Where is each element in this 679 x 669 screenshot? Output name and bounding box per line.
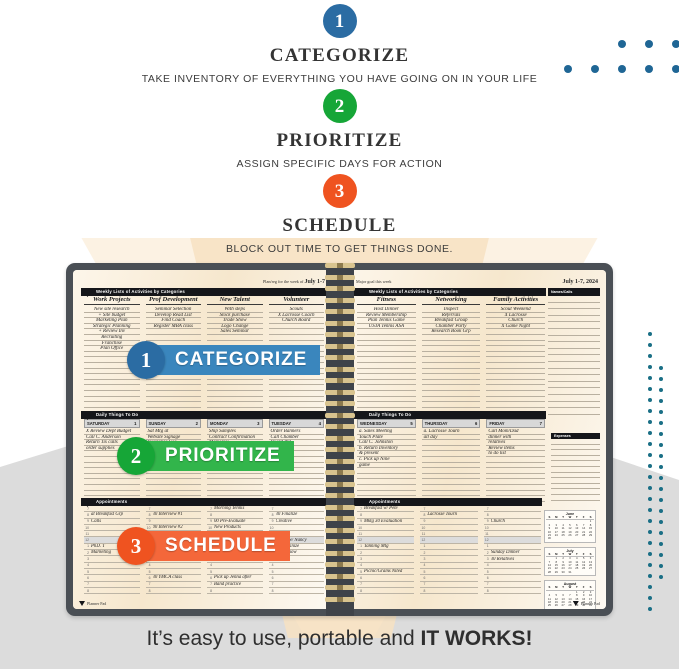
slot-time: 1 (84, 544, 91, 548)
step-1-badge: 1 (323, 4, 357, 38)
coil-ring (325, 551, 355, 556)
left-section1-bar-label: Weekly Lists of Activities by Categories (96, 289, 185, 294)
appointment-slot: 8 (269, 588, 325, 594)
coil-ring (325, 539, 355, 544)
decorative-dot (648, 574, 652, 578)
right-section3-bar: Appointments (354, 498, 542, 506)
right-daily-todo-section: Daily Things To Do WEDNESDAY5 a. Sales M… (354, 411, 600, 502)
slot-time: 11 (84, 532, 91, 536)
calendar-day: 31 (567, 571, 574, 574)
decorative-dot (648, 475, 652, 479)
slot-entry: Sunday Dinner (491, 550, 541, 555)
ruled-line (548, 336, 600, 343)
mini-calendar-grid: SMTWTFS123456789101112131415161718192021… (546, 516, 594, 541)
overlay-3-circle: 3 (117, 527, 155, 565)
slot-time: 10 (357, 526, 364, 530)
overlay-label-categorize: 1 CATEGORIZE (127, 341, 320, 379)
decorative-dot (659, 575, 663, 579)
slot-entry: Morning Tennis (214, 506, 263, 511)
right-section2-bar-label: Daily Things To Do (369, 412, 411, 417)
slot-time: 7 (84, 582, 91, 586)
ruled-line (548, 309, 600, 316)
coil-ring (325, 390, 355, 395)
day-column-head: FRIDAY7 (486, 419, 545, 428)
calendar-day (587, 537, 594, 540)
ruled-line (548, 316, 600, 323)
category-column-head: Family Activities (486, 296, 545, 305)
flag-icon (81, 411, 94, 419)
decorative-dot (648, 541, 652, 545)
slot-time: 8 (420, 513, 427, 517)
ruled-line (548, 369, 600, 376)
coil-ring (325, 413, 355, 418)
day-name: SATURDAY (87, 421, 110, 426)
day-number: 5 (410, 421, 412, 426)
decorative-dot (648, 607, 652, 611)
slot-time: 7 (207, 507, 214, 511)
calendar-day: 30 (560, 571, 567, 574)
slot-time: 5 (84, 570, 91, 574)
slot-time: 8 (269, 589, 276, 593)
mini-calendar: July SMTWTFS1234567891011121314151617181… (544, 547, 596, 576)
day-column-body: Call Mom/Daddinner withrelativesReview i… (486, 429, 545, 502)
slot-time: 5 (420, 570, 427, 574)
flag-icon (354, 498, 367, 506)
decorative-dot (648, 354, 652, 358)
day-column: THURSDAY6 a. Lacrosse Tournall day (419, 419, 484, 502)
slot-time: 8 (146, 513, 153, 517)
decorative-dot (648, 519, 652, 523)
slot-time: 9 (269, 519, 276, 523)
slot-time: 1 (484, 544, 491, 548)
coil-ring (325, 298, 355, 303)
calendar-day: 29 (553, 571, 560, 574)
slot-time: 1 (420, 544, 427, 548)
step-2-title: PRIORITIZE (0, 130, 679, 152)
ruled-line (548, 329, 600, 336)
decorative-dot (648, 365, 652, 369)
overlay-1-circle: 1 (127, 341, 165, 379)
step-1-subtitle: TAKE INVENTORY OF EVERYTHING YOU HAVE GO… (0, 73, 679, 85)
slot-time: 8 (207, 589, 214, 593)
slot-time: 6 (357, 576, 364, 580)
day-number: 6 (475, 421, 477, 426)
ruled-line (269, 402, 325, 408)
coil-ring (325, 436, 355, 441)
right-section1-columns: Fitness Host DinnerReview MembershipPlan… (354, 296, 548, 415)
slot-entry: Breakfast w/ Pete (364, 506, 414, 511)
coil-ring (325, 332, 355, 337)
coil-ring (325, 482, 355, 487)
slot-time: 4 (357, 563, 364, 567)
ruled-line (548, 402, 600, 409)
ruled-line (207, 402, 263, 408)
right-weekly-lists-section: Major goal this week July 1-7, 2024 Week… (354, 288, 600, 415)
decorative-dot (648, 431, 652, 435)
slot-time: 3 (420, 557, 427, 561)
step-1: 1 CATEGORIZE TAKE INVENTORY OF EVERYTHIN… (0, 4, 679, 85)
right-section2-columns: WEDNESDAY5 a. Sales MeetingTouch PlateCa… (354, 419, 548, 502)
step-2-badge: 2 (323, 89, 357, 123)
decorative-dot (659, 377, 663, 381)
decorative-dot (659, 421, 663, 425)
calendar-day (580, 537, 587, 540)
slot-time: 8 (84, 589, 91, 593)
category-column: Family Activities Scout WeekendX Lacross… (483, 296, 548, 415)
category-column-head: Networking (422, 296, 481, 305)
slot-time: 9 (357, 519, 364, 523)
slot-time: 8 (84, 513, 91, 517)
decorative-dot (659, 520, 663, 524)
day-name: MONDAY (210, 421, 228, 426)
overlay-label-schedule: 3 SCHEDULE (117, 527, 290, 565)
tagline: It’s easy to use, portable and IT WORKS! (0, 627, 679, 651)
day-number: 3 (257, 421, 259, 426)
ruled-line (548, 362, 600, 369)
planner-right-page: Major goal this week July 1-7, 2024 Week… (346, 270, 606, 609)
coil-ring (325, 286, 355, 291)
category-column-head: New Talent (207, 296, 263, 305)
coil-ring (325, 505, 355, 510)
decorative-dot (659, 509, 663, 513)
decorative-dot (648, 343, 652, 347)
slot-time: 8 (357, 589, 364, 593)
tagline-normal: It’s easy to use, portable and (147, 627, 421, 650)
calendar-day (573, 571, 580, 574)
slot-time: 7 (484, 507, 491, 511)
slot-time: 2 (484, 551, 491, 555)
decorative-dot (648, 409, 652, 413)
decorative-dot (659, 399, 663, 403)
mini-calendar-grid: SMTWTFS123456789101112131415161718192021… (546, 553, 594, 574)
slot-time: 8 (484, 589, 491, 593)
decorative-dot (648, 420, 652, 424)
slot-entry: Picnic/Grams Nited (364, 569, 414, 574)
coil-ring (325, 378, 355, 383)
slot-time: 5 (357, 570, 364, 574)
ruled-line (84, 402, 140, 408)
decorative-dot (591, 65, 599, 73)
category-column: Networking InspectReferralsBreakfast Gro… (419, 296, 484, 415)
day-column-body: a. Sales MeetingTouch PlateCall C. Johns… (357, 429, 416, 502)
calendar-day: 25 (546, 604, 553, 607)
decorative-dot (659, 465, 663, 469)
slot-time: 12 (84, 538, 91, 542)
slot-time: 6 (207, 576, 214, 580)
overlay-1-ribbon: CATEGORIZE (156, 345, 320, 375)
step-3-subtitle: BLOCK OUT TIME TO GET THINGS DONE. (0, 243, 679, 255)
calendar-day (567, 537, 574, 540)
appointment-column: 789Church10111212Sunday Dinner330 Relati… (481, 506, 544, 594)
slot-time: 3 (357, 557, 364, 561)
coil-ring (325, 275, 355, 280)
category-column-head: Work Projects (84, 296, 140, 305)
decorative-dot (618, 65, 626, 73)
coil-ring (325, 447, 355, 452)
slot-time: 6 (484, 576, 491, 580)
slot-time: 9 (146, 519, 153, 523)
decorative-dot (648, 387, 652, 391)
calendar-day: 26 (553, 604, 560, 607)
names-calls-lines (548, 296, 600, 415)
decorative-dot (659, 487, 663, 491)
slot-time: 9 (484, 519, 491, 523)
decorative-dot (659, 498, 663, 502)
step-3-badge: 3 (323, 174, 357, 208)
slot-entry: 30 YMCA class (153, 575, 202, 580)
slot-time: 4 (420, 563, 427, 567)
decorative-dot (648, 497, 652, 501)
day-number: 4 (319, 421, 321, 426)
day-column-head: SUNDAY2 (146, 419, 202, 428)
appointment-column: 78Lacrosse Tourn910111212345678 (417, 506, 480, 594)
decorative-dot (648, 508, 652, 512)
appointment-slot: 8 (420, 588, 477, 594)
decorative-dot (648, 486, 652, 490)
coil-ring (325, 401, 355, 406)
slot-entry: at Breakfast Grp (91, 512, 140, 517)
slot-time: 7 (207, 582, 214, 586)
right-brand: Planner Pad (573, 601, 600, 606)
day-name: WEDNESDAY (360, 421, 387, 426)
slot-time: 7 (84, 507, 91, 511)
slot-time: 12 (484, 538, 491, 542)
day-name: THURSDAY (425, 421, 448, 426)
coil-ring (325, 344, 355, 349)
right-brand-label: Planner Pad (581, 601, 600, 606)
slot-time: 2 (357, 551, 364, 555)
overlay-2-circle: 2 (117, 437, 155, 475)
decorative-dot (648, 464, 652, 468)
overlay-3-ribbon: SCHEDULE (146, 531, 290, 561)
coil-ring (325, 309, 355, 314)
ruled-line (548, 303, 600, 310)
appointment-slot: 8 (207, 588, 263, 594)
slot-time: 11 (357, 532, 364, 536)
decorative-dot (659, 443, 663, 447)
left-week-note-label: Plan/reg for the week of (263, 279, 305, 284)
decorative-dot (648, 442, 652, 446)
coil-ring (325, 585, 355, 590)
right-week-range: July 1-7, 2024 (562, 279, 598, 285)
calendar-day: 27 (560, 604, 567, 607)
decorative-dot (648, 563, 652, 567)
coil-ring (325, 263, 355, 268)
slot-time: 10 (484, 526, 491, 530)
slot-entry: 30 Relatives (491, 557, 541, 562)
tagline-bold: IT WORKS! (420, 627, 532, 650)
slot-time: 7 (420, 582, 427, 586)
left-week-range: July 1-7 (304, 279, 325, 285)
slot-entry: Band practice (214, 582, 263, 587)
decorative-dot (659, 432, 663, 436)
day-number: 2 (196, 421, 198, 426)
appointment-slot: 8 (357, 588, 414, 594)
left-section1-bar: Weekly Lists of Activities by Categories (81, 288, 327, 296)
spiral-coil (325, 263, 355, 608)
slot-time: 8 (484, 513, 491, 517)
appointment-slot: 8 (84, 588, 140, 594)
calendar-day (573, 537, 580, 540)
calendar-day: 30 (546, 537, 553, 540)
flag-icon (81, 498, 94, 506)
slot-time: 8 (420, 589, 427, 593)
step-1-title: CATEGORIZE (0, 45, 679, 67)
slot-time: 12 (420, 538, 427, 542)
expenses-block: Expenses (548, 419, 600, 502)
overlay-2-ribbon: PRIORITIZE (146, 441, 294, 471)
appointment-slot: 8 (146, 588, 202, 594)
ruled-line (146, 402, 202, 408)
day-name: SUNDAY (149, 421, 166, 426)
appointment-slot: 8 (484, 588, 541, 594)
overlay-label-prioritize: 2 PRIORITIZE (117, 437, 294, 475)
ruled-line (548, 342, 600, 349)
slot-time: 7 (357, 582, 364, 586)
decorative-dot (659, 553, 663, 557)
slot-time: 5 (484, 570, 491, 574)
decorative-dot (659, 531, 663, 535)
slot-time: 8 (146, 589, 153, 593)
slot-time: 9 (207, 519, 214, 523)
right-section2-bar: Daily Things To Do (354, 411, 546, 419)
calendar-day (580, 571, 587, 574)
calendar-day: 28 (546, 571, 553, 574)
category-column: Fitness Host DinnerReview MembershipPlan… (354, 296, 419, 415)
category-column-head: Volunteer (269, 296, 325, 305)
slot-time: 7 (146, 507, 153, 511)
calendar-week: 30 (546, 537, 594, 540)
ruled-line (548, 395, 600, 402)
triangle-logo-icon (79, 601, 85, 606)
slot-time: 1 (357, 544, 364, 548)
decorative-dot (648, 398, 652, 402)
decorative-dot (648, 376, 652, 380)
coil-ring (325, 574, 355, 579)
ruled-line (422, 402, 481, 408)
ruled-line (548, 349, 600, 356)
slot-time: 6 (84, 576, 91, 580)
day-name: TUESDAY (272, 421, 292, 426)
decorative-dot (564, 65, 572, 73)
slot-time: 5 (207, 570, 214, 574)
left-section2-bar-label: Daily Things To Do (96, 412, 138, 417)
slot-entry: Calls (91, 519, 140, 524)
left-brand-label: Planner Pad (87, 601, 106, 606)
slot-time: 7 (269, 582, 276, 586)
decorative-dot (672, 65, 679, 73)
day-column-head: SATURDAY1 (84, 419, 140, 428)
decorative-dot (645, 40, 653, 48)
slot-time: 7 (420, 507, 427, 511)
slot-time: 4 (84, 563, 91, 567)
slot-time: 11 (484, 532, 491, 536)
decorative-dot (659, 564, 663, 568)
flag-icon (354, 288, 367, 296)
slot-time: 8 (269, 513, 276, 517)
slot-time: 8 (207, 513, 214, 517)
calendar-day (560, 537, 567, 540)
coil-ring (325, 367, 355, 372)
slot-time: 8 (357, 513, 364, 517)
decorative-dot (648, 332, 652, 336)
slot-time: 3 (84, 557, 91, 561)
right-section1-bar: Weekly Lists of Activities by Categories (354, 288, 546, 296)
calendar-day (587, 571, 594, 574)
day-column-head: WEDNESDAY5 (357, 419, 416, 428)
calendar-day (553, 537, 560, 540)
category-column-body: Scout WeekendX LacrosseChurchX Game Nigh… (486, 307, 545, 408)
mini-calendar: June SMTWTFS1234567891011121314151617181… (544, 510, 596, 543)
calendar-week: 28293031 (546, 571, 594, 574)
decorative-dot (659, 366, 663, 370)
step-3: 3 SCHEDULE BLOCK OUT TIME TO GET THINGS … (0, 174, 679, 255)
coil-ring (325, 355, 355, 360)
slot-time: 7 (146, 582, 153, 586)
decorative-dot (648, 453, 652, 457)
names-calls-bar: Names/Calls (548, 288, 600, 296)
day-column-head: TUESDAY4 (269, 419, 325, 428)
coil-ring (325, 562, 355, 567)
slot-entry: Church (491, 519, 541, 524)
slot-time: 9 (420, 519, 427, 523)
left-section3-bar-label: Appointments (96, 499, 127, 504)
category-column-body: Host DinnerReview MembershipPlan Tennis … (357, 307, 416, 408)
decorative-dot (659, 410, 663, 414)
slot-entry: Pick up Jenna after (214, 575, 263, 580)
ruled-line (548, 382, 600, 389)
slot-entry: Creative (276, 519, 325, 524)
ruled-line (548, 296, 600, 303)
slot-time: 10 (84, 526, 91, 530)
slot-time: 3 (484, 557, 491, 561)
decorative-dot (645, 65, 653, 73)
slot-time: 4 (484, 563, 491, 567)
decorative-dot (659, 542, 663, 546)
slot-time: 9 (84, 519, 91, 523)
coil-ring (325, 493, 355, 498)
slot-entry: 30 Finalize (276, 512, 325, 517)
slot-time: 5 (269, 570, 276, 574)
ruled-line (548, 375, 600, 382)
day-column-body: a. Lacrosse Tournall day (422, 429, 481, 502)
day-column: FRIDAY7 Call Mom/Daddinner withrelatives… (483, 419, 548, 502)
day-column-head: THURSDAY6 (422, 419, 481, 428)
right-goal-note: Major goal this week (356, 279, 391, 284)
left-section2-bar: Daily Things To Do (81, 411, 327, 419)
left-week-note: Plan/reg for the week of July 1-7 (263, 279, 325, 285)
coil-ring (325, 528, 355, 533)
ruled-line (486, 402, 545, 408)
day-column-head: MONDAY3 (207, 419, 263, 428)
ruled-line (357, 402, 416, 408)
coil-ring (325, 424, 355, 429)
ruled-line (548, 388, 600, 395)
right-section3-columns: 7Breakfast w/ Pete89Mktg 30 Evaluation10… (354, 506, 544, 594)
slot-entry: 30 Interview #1 (153, 512, 202, 517)
decorative-dot (618, 40, 626, 48)
slot-entry: 00 Pre-Evaluate (214, 519, 263, 524)
slot-time: 2 (84, 551, 91, 555)
decorative-dot (648, 585, 652, 589)
ruled-line (548, 322, 600, 329)
slot-entry: Mktg 30 Evaluation (364, 519, 414, 524)
decorative-dot (648, 552, 652, 556)
triangle-logo-icon (573, 601, 579, 606)
right-section3-bar-label: Appointments (369, 499, 400, 504)
right-appointments-section: Appointments 7Breakfast w/ Pete89Mktg 30… (354, 498, 600, 594)
slot-time: 10 (420, 526, 427, 530)
